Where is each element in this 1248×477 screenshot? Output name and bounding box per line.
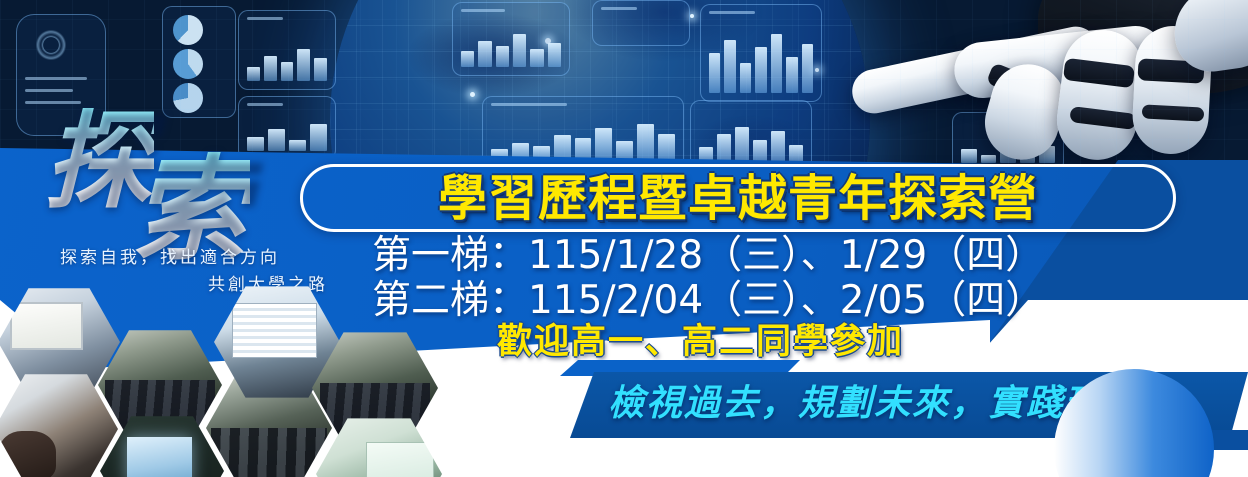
robot-knuckle: [1142, 104, 1205, 121]
hud-area-chart: [238, 10, 336, 90]
welcome-text: 歡迎高一、高二同學參加: [497, 325, 904, 360]
robot-knuckle: [1026, 49, 1065, 82]
robot-finger-pinky: [1131, 24, 1214, 156]
fingerprint-icon: [33, 27, 69, 63]
hud-waveform-panel: [952, 112, 1064, 172]
robot-knuckle: [1069, 106, 1136, 130]
robot-knuckle: [1137, 58, 1204, 83]
pie-chart-icon: [173, 15, 203, 45]
hud-bar-chart: [238, 96, 336, 160]
subtitle-line-1: 探索自我，找出適合方向: [60, 243, 280, 268]
robot-finger-index: [848, 22, 1102, 117]
session-line-2: 第二梯：115/2/04（三）、2/05（四）: [372, 281, 1044, 320]
hud-pie-panel: [162, 6, 236, 118]
event-banner: 探 索 探索自我，找出適合方向 共創大學之路 學習歷程暨卓越青年探索營 第一梯：…: [0, 0, 1248, 477]
globe-spark: [690, 14, 694, 18]
robot-finger-middle: [952, 23, 1167, 101]
session-line-1: 第一梯：115/1/28（三）、1/29（四）: [372, 236, 1044, 275]
robot-finger-ring: [1052, 26, 1147, 165]
hud-candlestick-chart: [700, 4, 822, 102]
pie-chart-icon: [173, 49, 203, 79]
pie-chart-icon: [173, 83, 203, 113]
globe-spark: [815, 68, 819, 72]
hud-metrics-panel: [452, 2, 570, 76]
robot-hand-back: [1038, 0, 1248, 94]
headline-pill: 學習歷程暨卓越青年探索營: [300, 164, 1176, 232]
robot-thumb: [1169, 0, 1248, 76]
globe-spark: [470, 92, 475, 97]
headline-text: 學習歷程暨卓越青年探索營: [438, 174, 1038, 223]
robot-finger-segment: [976, 56, 1074, 169]
robot-knuckle: [986, 62, 1046, 103]
globe-spark: [545, 38, 551, 44]
robot-knuckle: [1063, 58, 1135, 88]
hud-card: [592, 0, 690, 46]
